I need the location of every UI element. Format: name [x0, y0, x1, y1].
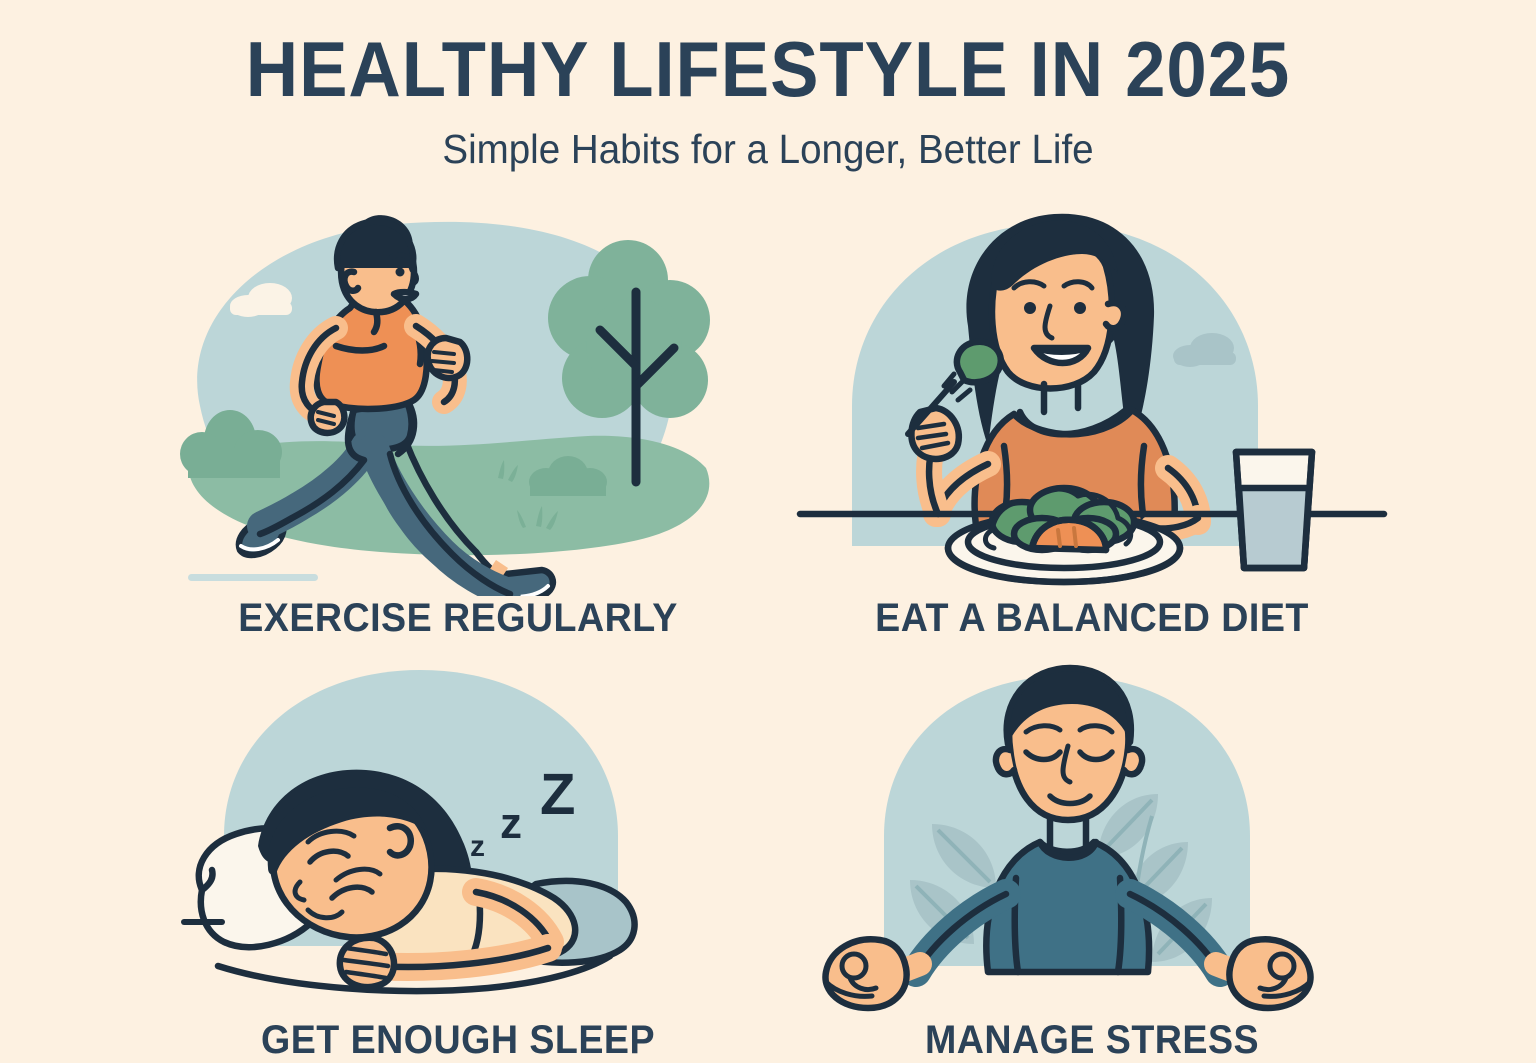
back-fist	[311, 402, 345, 433]
sleep-mark-small: z	[470, 830, 485, 863]
motion-line	[188, 574, 318, 581]
panel-exercise[interactable]: EXERCISE REGULARLY	[158, 196, 758, 610]
hand	[340, 938, 394, 987]
diet-illustration	[792, 196, 1392, 596]
cloud-icon	[230, 283, 292, 317]
caption-exercise: EXERCISE REGULARLY	[176, 596, 740, 641]
exercise-illustration	[158, 196, 758, 596]
panel-sleep[interactable]: z z Z	[158, 636, 758, 1050]
glass-of-water	[1236, 452, 1312, 568]
mudra-hand-right	[1229, 939, 1310, 1008]
page-subtitle: Simple Habits for a Longer, Better Life	[46, 108, 1490, 173]
caption-diet: EAT A BALANCED DIET	[810, 596, 1374, 641]
panel-stress[interactable]: MANAGE STRESS	[792, 636, 1392, 1050]
page-title: HEALTHY LIFESTYLE IN 2025	[54, 30, 1482, 108]
caption-sleep: GET ENOUGH SLEEP	[176, 1018, 740, 1063]
front-fist	[428, 338, 468, 378]
caption-stress: MANAGE STRESS	[810, 1018, 1374, 1063]
sleep-illustration: z z Z	[158, 636, 758, 1036]
broccoli-icon	[957, 342, 1001, 383]
panel-grid: EXERCISE REGULARLY	[0, 196, 1536, 1024]
mudra-hand-left	[825, 939, 906, 1008]
poster-header: HEALTHY LIFESTYLE IN 2025 Simple Habits …	[0, 0, 1536, 173]
stress-illustration	[792, 636, 1392, 1036]
infographic-poster: HEALTHY LIFESTYLE IN 2025 Simple Habits …	[0, 0, 1536, 1024]
panel-diet[interactable]: EAT A BALANCED DIET	[792, 196, 1392, 610]
sleep-mark-medium: z	[500, 799, 522, 848]
sleep-mark-large: Z	[540, 762, 575, 827]
